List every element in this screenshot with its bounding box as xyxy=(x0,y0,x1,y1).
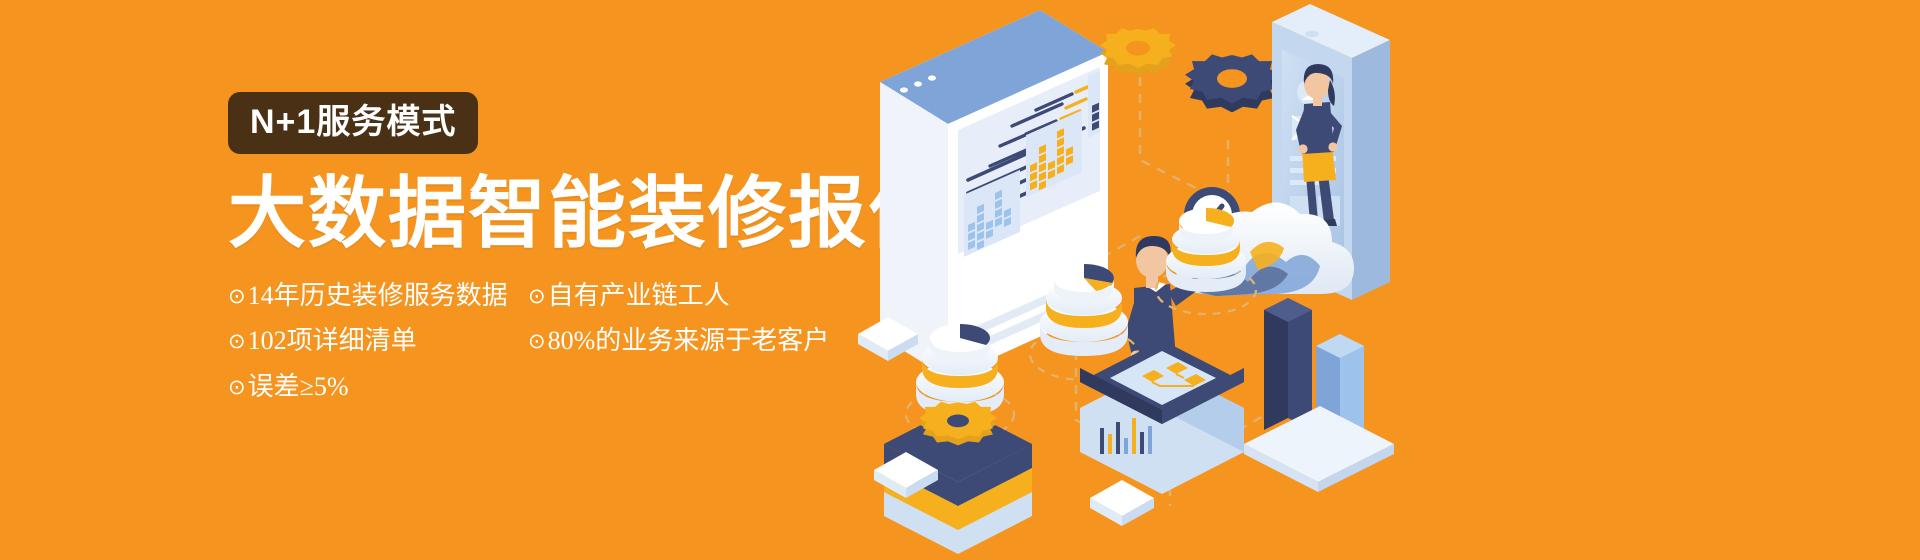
list-item-label: 误差≥5% xyxy=(248,371,349,404)
circled-dot-icon: ⊙ xyxy=(228,283,246,309)
list-item: ⊙ 自有产业链工人 xyxy=(528,280,730,313)
feature-bullet-list: ⊙ 14年历史装修服务数据 ⊙ 自有产业链工人 ⊙ 102项详细清单 ⊙ 80%… xyxy=(228,280,868,404)
text-block: N+1服务模式 大数据智能装修报价 ⊙ 14年历史装修服务数据 ⊙ 自有产业链工… xyxy=(228,92,928,416)
server-box xyxy=(1080,340,1244,494)
page-title: 大数据智能装修报价 xyxy=(228,174,928,254)
bullet-row: ⊙ 误差≥5% xyxy=(228,371,868,404)
gear-yellow xyxy=(1100,28,1176,76)
circled-dot-icon: ⊙ xyxy=(228,328,246,354)
circled-dot-icon: ⊙ xyxy=(528,328,546,354)
circled-dot-icon: ⊙ xyxy=(528,283,546,309)
list-item: ⊙ 80%的业务来源于老客户 xyxy=(528,325,829,358)
bullet-row: ⊙ 14年历史装修服务数据 ⊙ 自有产业链工人 xyxy=(228,280,868,313)
floating-tile xyxy=(1090,480,1154,526)
bullet-row: ⊙ 102项详细清单 ⊙ 80%的业务来源于老客户 xyxy=(228,325,868,358)
service-model-badge: N+1服务模式 xyxy=(228,92,478,154)
circled-dot-icon: ⊙ xyxy=(228,374,246,400)
list-item: ⊙ 102项详细清单 xyxy=(228,325,528,358)
list-item-label: 80%的业务来源于老客户 xyxy=(548,325,830,358)
isometric-big-data-illustration xyxy=(840,0,1400,560)
list-item: ⊙ 误差≥5% xyxy=(228,371,528,404)
promo-banner: N+1服务模式 大数据智能装修报价 ⊙ 14年历史装修服务数据 ⊙ 自有产业链工… xyxy=(0,0,1920,560)
list-item-label: 14年历史装修服务数据 xyxy=(248,280,508,313)
list-item-label: 102项详细清单 xyxy=(248,325,417,358)
list-item: ⊙ 14年历史装修服务数据 xyxy=(228,280,528,313)
bar-tower-navy xyxy=(1264,298,1312,430)
list-item-label: 自有产业链工人 xyxy=(548,280,730,313)
gear-navy xyxy=(1185,54,1279,112)
